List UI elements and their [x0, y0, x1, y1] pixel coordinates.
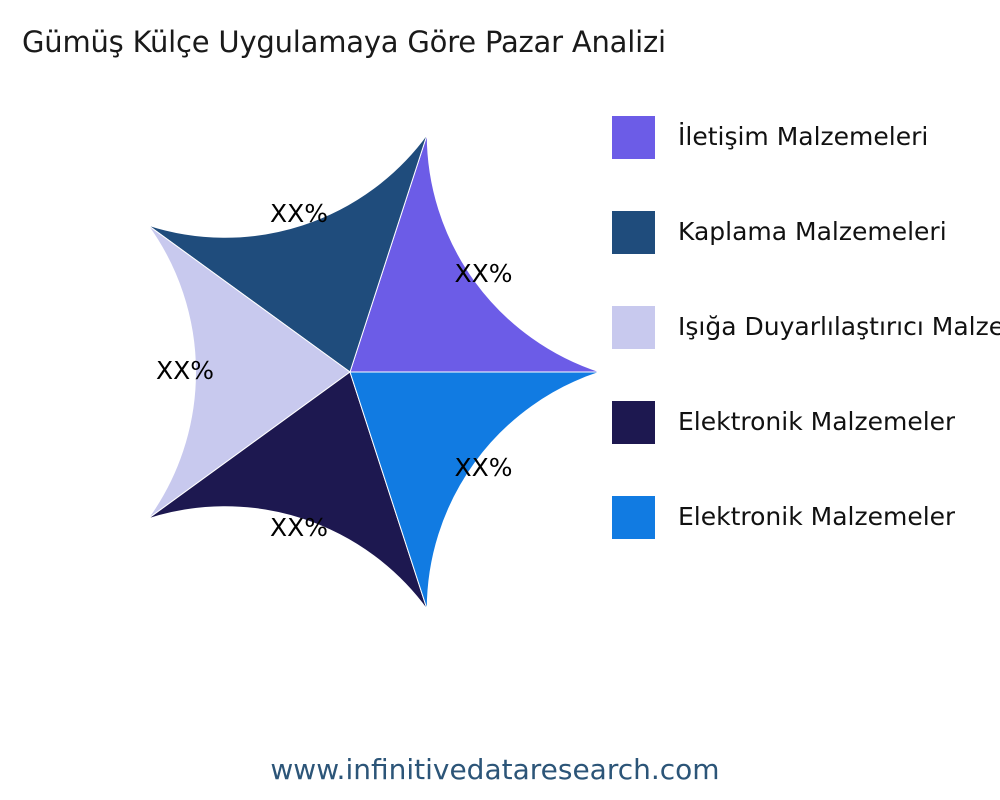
legend-label-2: Işığa Duyarlılaştırıcı Malzemeler [678, 312, 1000, 342]
legend-swatch-icon-3 [612, 401, 655, 444]
legend-swatch-icon-2 [612, 306, 655, 349]
legend: İletişim Malzemeleri Kaplama Malzemeleri… [612, 116, 1000, 538]
legend-item-1[interactable]: Kaplama Malzemeleri [612, 211, 1000, 253]
legend-label-1: Kaplama Malzemeleri [678, 217, 947, 247]
legend-swatch-icon-0 [612, 116, 655, 159]
pie-slice-label-0: XX% [454, 259, 512, 288]
legend-item-0[interactable]: İletişim Malzemeleri [612, 116, 1000, 158]
pie-chart-area: XX%XX%XX%XX%XX% [0, 0, 660, 740]
pie-slice-label-3: XX% [270, 513, 328, 542]
pie-chart: XX%XX%XX%XX%XX% [100, 122, 600, 622]
legend-item-2[interactable]: Işığa Duyarlılaştırıcı Malzemeler [612, 306, 1000, 348]
pie-slice-label-4: XX% [454, 453, 512, 482]
pie-slice-label-1: XX% [270, 199, 328, 228]
source-url[interactable]: www.infinitivedataresearch.com [0, 753, 1000, 786]
pie-slice-label-2: XX% [156, 356, 214, 385]
pie-slice-group [148, 134, 600, 610]
legend-label-4: Elektronik Malzemeler [678, 502, 955, 532]
legend-swatch-icon-4 [612, 496, 655, 539]
legend-item-3[interactable]: Elektronik Malzemeler [612, 401, 1000, 443]
legend-item-4[interactable]: Elektronik Malzemeler [612, 496, 1000, 538]
legend-label-3: Elektronik Malzemeler [678, 407, 955, 437]
legend-label-0: İletişim Malzemeleri [678, 122, 928, 152]
legend-swatch-icon-1 [612, 211, 655, 254]
